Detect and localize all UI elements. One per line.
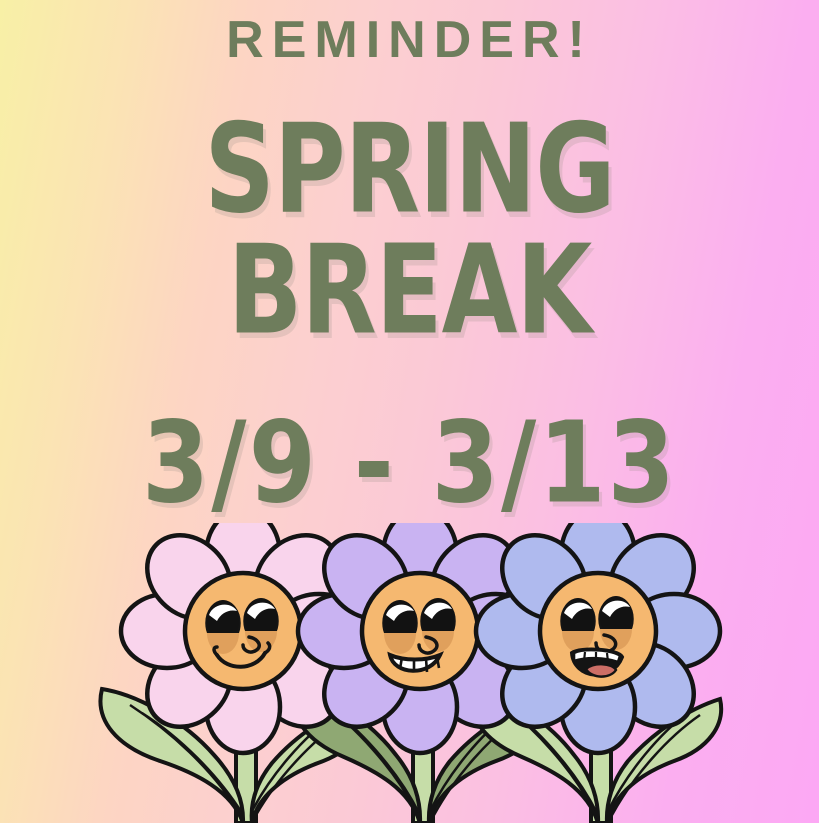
tongue-blue [586,664,616,676]
flower-blue [476,523,720,753]
flowers-svg [0,523,819,823]
reminder-kicker: REMINDER! [0,12,819,69]
poster-title-line-2: BREAK [0,238,819,344]
poster-date-range: 3/9 - 3/13 [0,398,819,529]
spring-break-poster: REMINDER! SPRING BREAK 3/9 - 3/13 [0,0,819,823]
poster-text-block: REMINDER! SPRING BREAK 3/9 - 3/13 [0,0,819,505]
poster-title-line-1: SPRING [0,117,819,223]
flower-illustration [0,523,819,823]
face-pink [185,573,301,689]
